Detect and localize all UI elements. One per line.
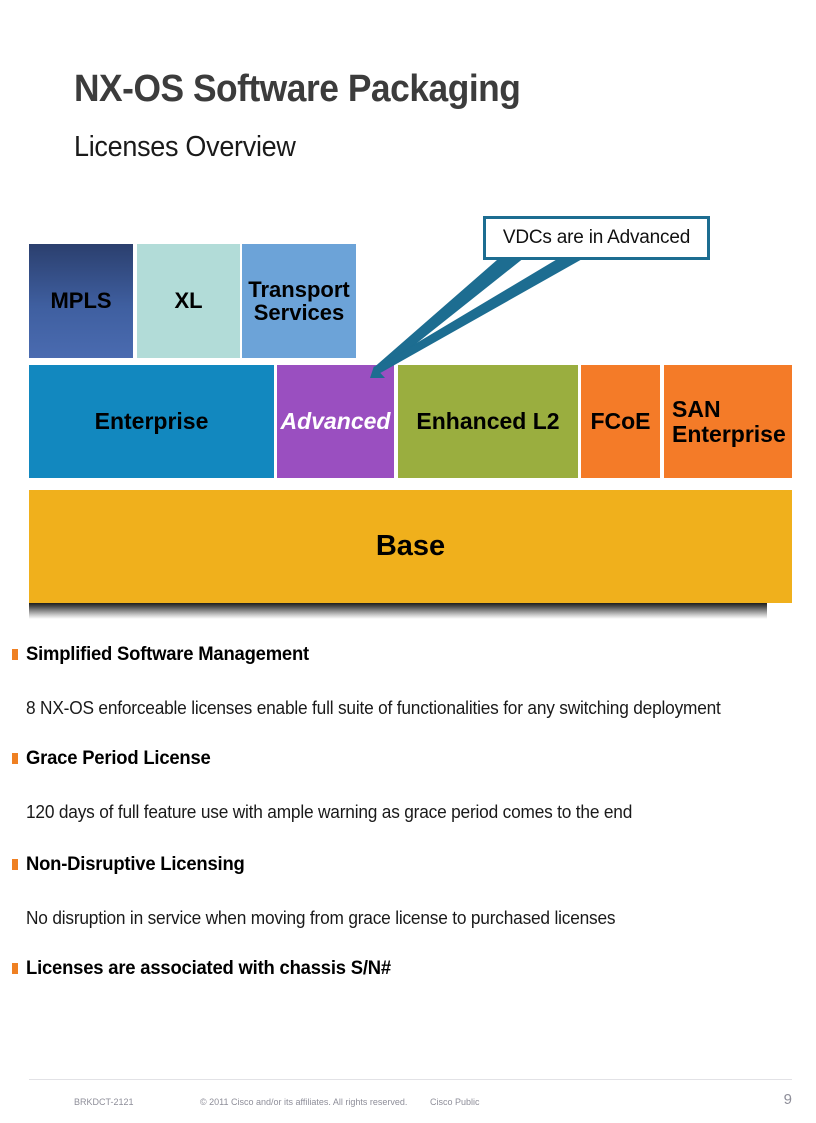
license-block-xl[interactable]: XL	[137, 244, 240, 358]
license-block-label-line2: Enterprise	[672, 421, 786, 447]
base-block-shadow	[29, 603, 767, 619]
license-block-label: Advanced	[281, 409, 391, 433]
license-block-advanced[interactable]: Advanced	[277, 365, 394, 478]
bullet-marker-icon	[12, 649, 18, 660]
callout-text: VDCs are in Advanced	[503, 227, 690, 249]
bullet-marker-icon	[12, 753, 18, 764]
license-block-base[interactable]: Base	[29, 490, 792, 603]
footer-page-number: 9	[784, 1091, 792, 1108]
bullet-detail: No disruption in service when moving fro…	[26, 908, 615, 929]
license-block-label-line1: Transport	[248, 277, 349, 302]
bullet-marker-icon	[12, 963, 18, 974]
license-block-mpls[interactable]: MPLS	[29, 244, 133, 358]
license-block-label: Transport Services	[248, 278, 349, 325]
license-block-label: Base	[376, 531, 445, 562]
license-block-enhanced-l2[interactable]: Enhanced L2	[398, 365, 578, 478]
bullet-detail: 8 NX-OS enforceable licenses enable full…	[26, 698, 721, 719]
callout-vdcs-advanced: VDCs are in Advanced	[483, 216, 710, 260]
bullet-heading: Licenses are associated with chassis S/N…	[26, 958, 391, 980]
bullet-detail: 120 days of full feature use with ample …	[26, 802, 632, 823]
footer-divider	[29, 1079, 792, 1080]
bullet-marker-icon	[12, 859, 18, 870]
license-block-enterprise[interactable]: Enterprise	[29, 365, 274, 478]
bullet-heading: Simplified Software Management	[26, 644, 309, 666]
footer-classification: Cisco Public	[430, 1097, 480, 1107]
bullet-heading: Non-Disruptive Licensing	[26, 854, 245, 876]
license-block-label: XL	[174, 289, 202, 312]
license-block-san-enterprise[interactable]: SAN Enterprise	[664, 365, 792, 478]
footer-copyright: © 2011 Cisco and/or its affiliates. All …	[200, 1097, 407, 1107]
license-block-label: Enterprise	[95, 409, 209, 433]
slide-footer: BRKDCT-2121 © 2011 Cisco and/or its affi…	[0, 1073, 816, 1123]
license-block-label-line2: Services	[254, 300, 345, 325]
license-block-label: Enhanced L2	[416, 409, 559, 433]
license-block-transport-services[interactable]: Transport Services	[242, 244, 356, 358]
bullet-heading: Grace Period License	[26, 748, 211, 770]
license-block-label: FCoE	[590, 409, 650, 433]
footer-session-code: BRKDCT-2121	[74, 1097, 134, 1107]
license-block-label: MPLS	[50, 289, 111, 312]
license-block-fcoe[interactable]: FCoE	[581, 365, 660, 478]
license-block-label-line1: SAN	[672, 396, 721, 422]
license-block-label: SAN Enterprise	[672, 397, 786, 446]
license-stack-diagram: VDCs are in Advanced MPLS XL Transport S…	[0, 0, 816, 640]
slide: NX-OS Software Packaging Licenses Overvi…	[0, 0, 816, 1123]
